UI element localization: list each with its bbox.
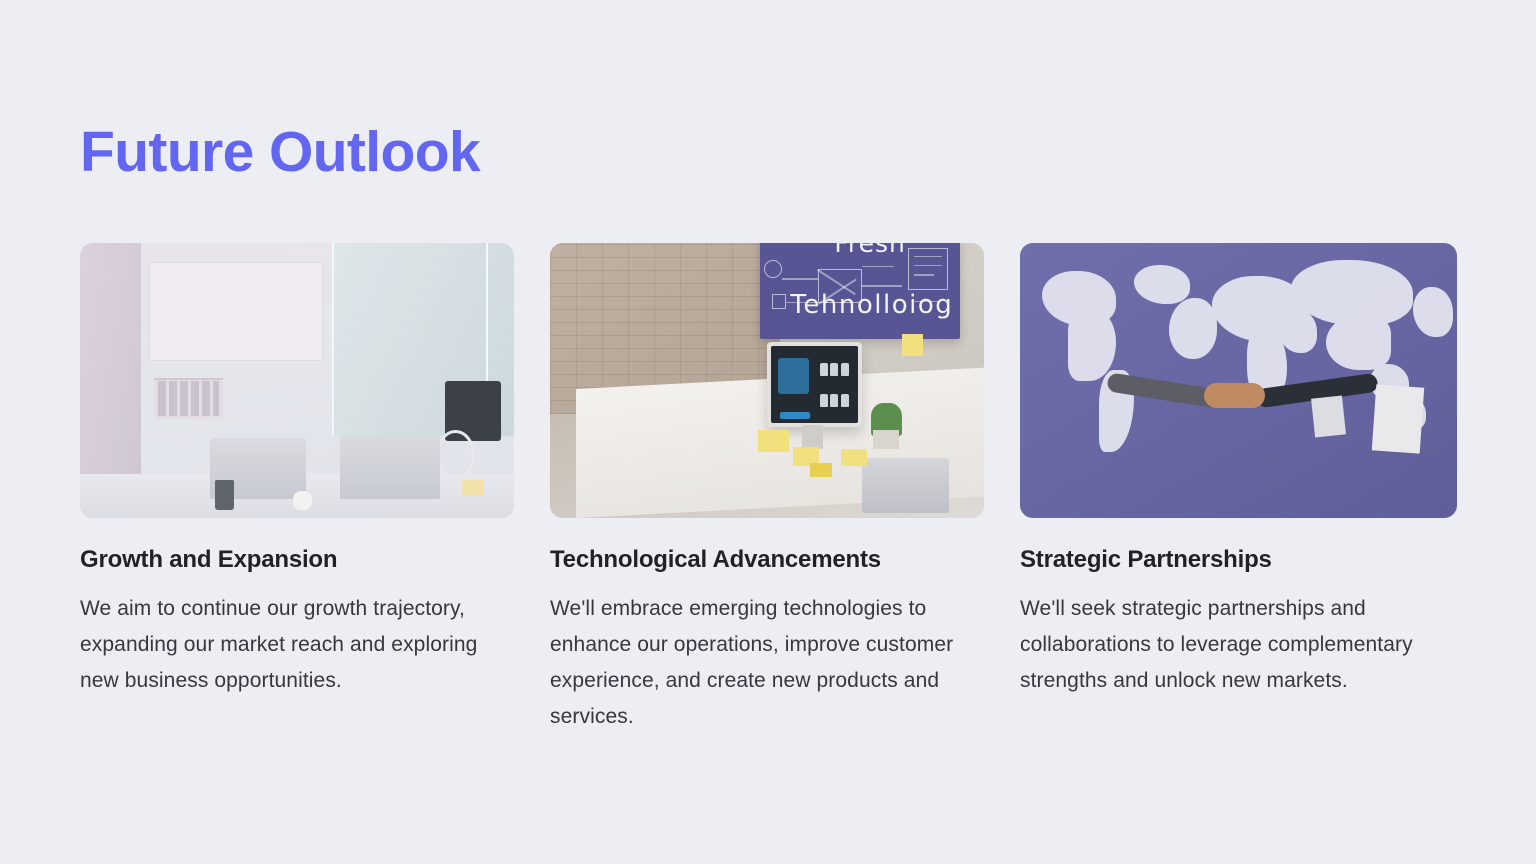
imac-screen bbox=[771, 346, 858, 423]
handshake-hands bbox=[1204, 383, 1265, 408]
tech-meeting-illustration: Fresh Tehnolloiog bbox=[550, 243, 984, 518]
card-growth-and-expansion: Growth and Expansion We aim to continue … bbox=[80, 243, 514, 735]
office-binders bbox=[158, 381, 219, 417]
technology-poster: Fresh Tehnolloiog bbox=[760, 243, 960, 339]
office-chair bbox=[436, 430, 475, 480]
slide-future-outlook: Future Outlook bbox=[0, 0, 1536, 864]
card-image-office-team bbox=[80, 243, 514, 518]
card-body-text: We aim to continue our growth trajectory… bbox=[80, 591, 514, 699]
poster-line-2: Tehnolloiog bbox=[790, 290, 953, 320]
silver-laptop bbox=[862, 458, 949, 513]
card-heading: Strategic Partnerships bbox=[1020, 545, 1457, 575]
document-held-fourth bbox=[1311, 396, 1345, 437]
card-image-handshake bbox=[1020, 243, 1457, 518]
laptop-right bbox=[340, 436, 440, 499]
card-body-text: We'll embrace emerging technologies to e… bbox=[550, 591, 984, 735]
page-title: Future Outlook bbox=[80, 123, 480, 183]
sticky-note bbox=[758, 430, 788, 452]
card-image-tech-meeting: Fresh Tehnolloiog bbox=[550, 243, 984, 518]
card-technological-advancements: Fresh Tehnolloiog bbox=[550, 243, 984, 735]
card-heading: Growth and Expansion bbox=[80, 545, 514, 575]
office-team-illustration bbox=[80, 243, 514, 518]
sticky-note bbox=[462, 480, 484, 497]
poster-line-1: Fresh bbox=[834, 243, 906, 258]
sticky-note bbox=[841, 449, 867, 466]
sticky-note bbox=[810, 463, 832, 477]
card-heading: Technological Advancements bbox=[550, 545, 984, 575]
plant-pot bbox=[873, 430, 899, 449]
document-held-right bbox=[1372, 384, 1425, 453]
world-map-backdrop bbox=[1020, 243, 1457, 518]
cards-grid: Growth and Expansion We aim to continue … bbox=[80, 243, 1457, 735]
office-whiteboard bbox=[149, 262, 323, 361]
coffee-cup-dark bbox=[215, 480, 235, 510]
handshake-illustration bbox=[1020, 243, 1457, 518]
coffee-cup-white bbox=[293, 491, 313, 510]
imac-display bbox=[767, 342, 862, 427]
card-strategic-partnerships: Strategic Partnerships We'll seek strate… bbox=[1020, 243, 1457, 735]
sticky-note bbox=[902, 334, 924, 356]
card-body-text: We'll seek strategic partnerships and co… bbox=[1020, 591, 1457, 699]
